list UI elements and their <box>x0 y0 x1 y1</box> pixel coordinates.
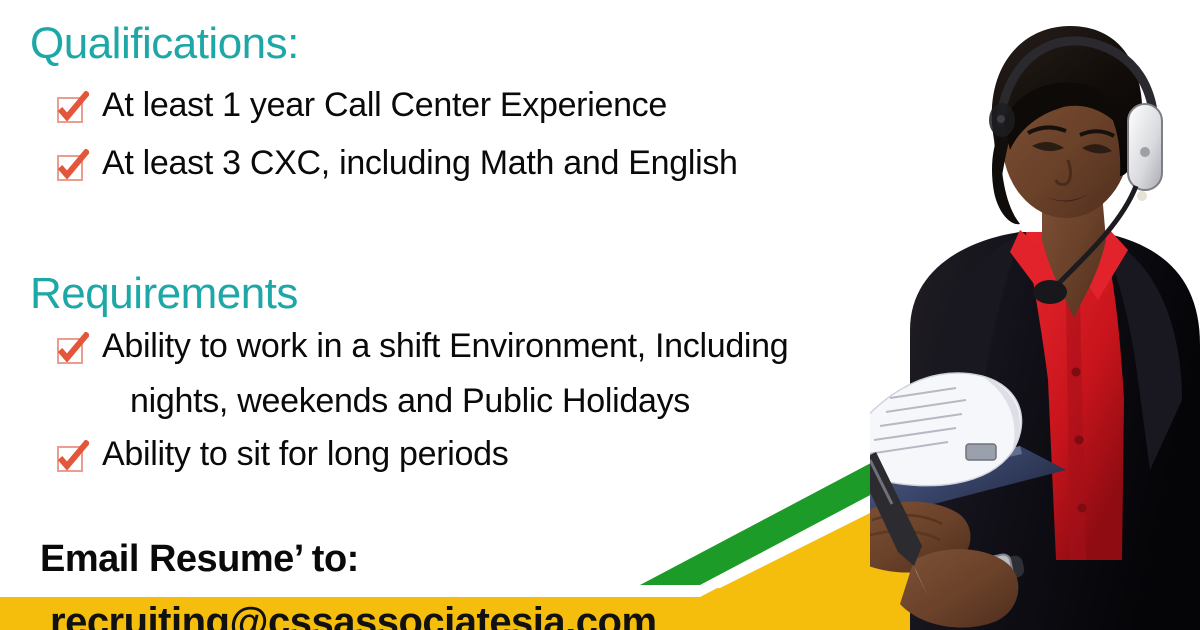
list-item-continuation: nights, weekends and Public Holidays <box>130 384 690 420</box>
job-ad-poster: Qualifications: At least 1 year Call Cen… <box>0 0 1200 630</box>
section-heading-requirements: Requirements <box>30 272 298 316</box>
checked-checkbox-icon <box>55 91 89 125</box>
headset-microphone <box>1033 280 1067 304</box>
shirt-button <box>1075 436 1084 445</box>
list-item: At least 3 CXC, including Math and Engli… <box>55 146 738 183</box>
section-heading-qualifications: Qualifications: <box>30 22 299 66</box>
recruiting-email-address[interactable]: recruiting@cssassociatesja.com <box>50 600 657 630</box>
list-item-label: Ability to sit for long periods <box>102 437 508 473</box>
checked-checkbox-icon <box>55 440 89 474</box>
checked-checkbox-icon <box>55 332 89 366</box>
headset-earcup-far-dot <box>997 115 1005 123</box>
headset-earcup-dot <box>1140 147 1150 157</box>
shirt-button <box>1072 368 1081 377</box>
agent-photo <box>870 0 1200 630</box>
list-item: Ability to sit for long periods <box>55 437 508 474</box>
list-item-label: At least 3 CXC, including Math and Engli… <box>102 146 738 182</box>
clipboard-clip <box>966 444 996 460</box>
list-item-label: Ability to work in a shift Environment, … <box>102 329 788 365</box>
list-item: Ability to work in a shift Environment, … <box>55 329 788 366</box>
email-resume-label: Email Resume’ to: <box>40 538 359 581</box>
poster-content: Qualifications: At least 1 year Call Cen… <box>0 0 960 630</box>
earring <box>1137 191 1147 201</box>
shirt-button <box>1078 504 1087 513</box>
list-item-label: At least 1 year Call Center Experience <box>102 88 667 124</box>
list-item: At least 1 year Call Center Experience <box>55 88 667 125</box>
checked-checkbox-icon <box>55 149 89 183</box>
